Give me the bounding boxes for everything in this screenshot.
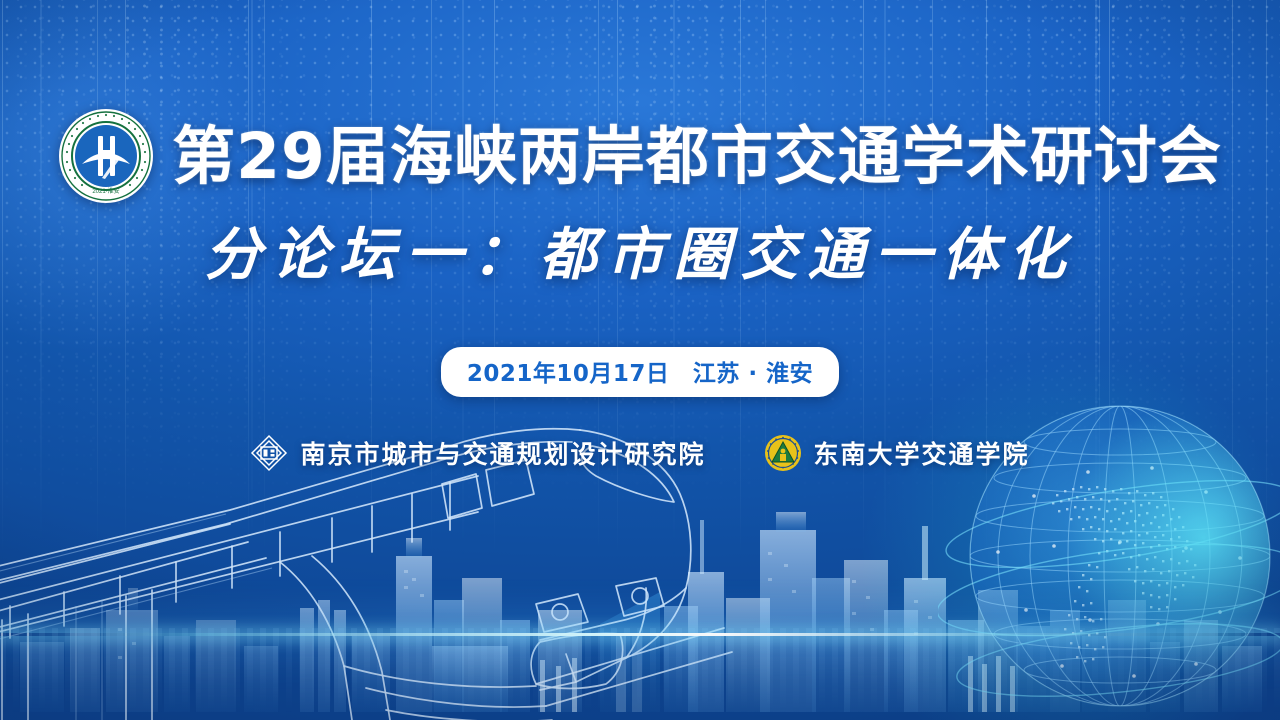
- date-location-badge: 2021年10月17日 江苏 · 淮安: [441, 347, 839, 397]
- organizer-name: 东南大学交通学院: [814, 435, 1030, 471]
- organizer-item: 南京市城市与交通规划设计研究院: [250, 434, 705, 472]
- forum-subtitle: 分论坛一：都市圈交通一体化: [0, 226, 1280, 283]
- title-row: 2021·淮安 第29届海峡两岸都市交通学术研讨会: [0, 108, 1280, 204]
- page-title: 第29届海峡两岸都市交通学术研讨会: [172, 125, 1222, 188]
- svg-text:2021·淮安: 2021·淮安: [92, 187, 119, 195]
- conference-seal-icon: 2021·淮安: [58, 108, 154, 204]
- organizer-list: 南京市城市与交通规划设计研究院: [0, 434, 1280, 472]
- organizer-name: 南京市城市与交通规划设计研究院: [300, 435, 705, 471]
- nanjing-institute-logo-icon: [250, 434, 288, 472]
- southeast-university-seal-icon: [764, 434, 802, 472]
- date-location-wrap: 2021年10月17日 江苏 · 淮安: [0, 347, 1280, 397]
- organizer-item: 东南大学交通学院: [764, 434, 1030, 472]
- conference-banner: 2021·淮安 第29届海峡两岸都市交通学术研讨会 分论坛一：都市圈交通一体化 …: [0, 0, 1280, 720]
- banner-content: 2021·淮安 第29届海峡两岸都市交通学术研讨会 分论坛一：都市圈交通一体化 …: [0, 0, 1280, 720]
